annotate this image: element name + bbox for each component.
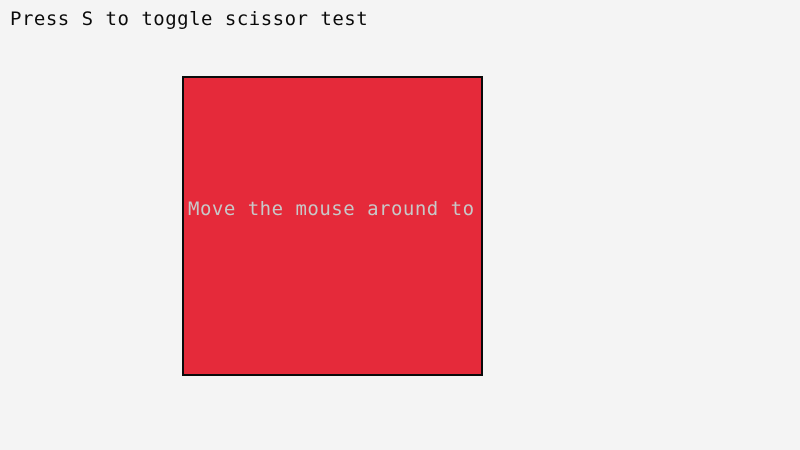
scissor-clipped-content: Move the mouse around to reveal this tex… (184, 78, 483, 374)
scissor-test-rectangle[interactable]: Move the mouse around to reveal this tex… (182, 76, 483, 376)
clipped-message-label: Move the mouse around to reveal this tex… (188, 198, 483, 220)
game-canvas: Press S to toggle scissor test Move the … (0, 0, 800, 450)
scissor-toggle-hint-label: Press S to toggle scissor test (10, 8, 368, 30)
